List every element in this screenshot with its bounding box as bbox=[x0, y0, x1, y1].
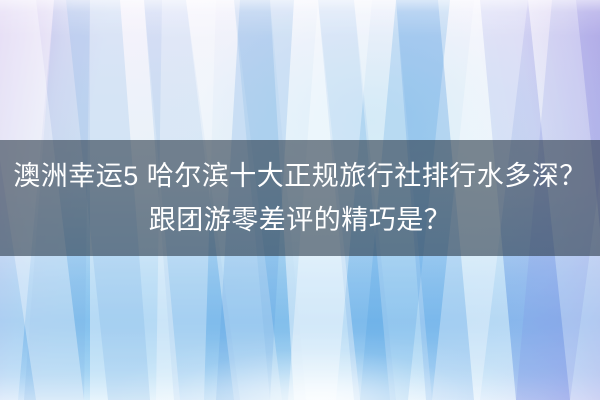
promo-banner: 澳洲幸运5 哈尔滨十大正规旅行社排行水多深？ 跟团游零差评的精巧是？ bbox=[0, 0, 600, 400]
caption-line-1: 澳洲幸运5 哈尔滨十大正规旅行社排行水多深？ bbox=[13, 154, 587, 198]
caption-band: 澳洲幸运5 哈尔滨十大正规旅行社排行水多深？ 跟团游零差评的精巧是？ bbox=[0, 140, 600, 256]
caption-line-2: 跟团游零差评的精巧是？ bbox=[149, 198, 452, 242]
